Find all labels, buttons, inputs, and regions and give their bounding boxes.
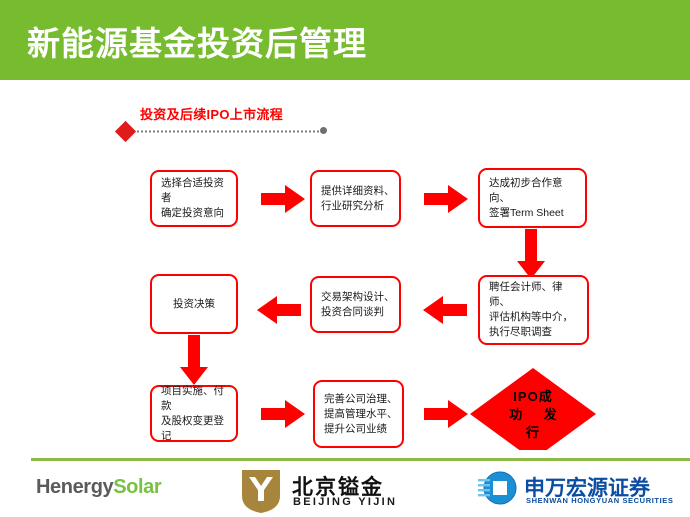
flow-step-box-5[interactable]: 交易架构设计、 投资合同谈判 (310, 276, 401, 333)
flow-step-label: 提供详细资料、 行业研究分析 (312, 184, 399, 214)
logo-beijing-yijin: 北京镒金 BEIJING YIJIN (240, 468, 440, 514)
flow-step-box-1[interactable]: 选择合适投资者 确定投资意向 (150, 170, 238, 227)
shield-y-icon (240, 468, 282, 514)
end-dot-icon (320, 127, 327, 134)
flow-step-label: 达成初步合作意向、 签署Term Sheet (480, 176, 585, 221)
arrow-left-icon-2 (255, 295, 301, 325)
arrow-right-icon-4 (424, 399, 468, 429)
flow-step-label: 项目实施、付款 及股权变更登记 (152, 384, 236, 444)
shenwan-circle-icon (478, 470, 518, 508)
page-title: 新能源基金投资后管理 (27, 24, 367, 64)
arrow-right-icon-3 (261, 399, 305, 429)
flow-step-box-6[interactable]: 投资决策 (150, 274, 238, 334)
ipo-outcome-line-1: IPO成 (470, 388, 596, 406)
logo-henergy-solar: HenergySolar (36, 476, 161, 499)
flow-step-box-4[interactable]: 聘任会计师、律师、 评估机构等中介， 执行尽职调查 (478, 275, 589, 345)
logo-shenwan-en: SHENWAN HONGYUAN SECURITIES (526, 496, 673, 505)
logo-henergy-part-2: Solar (113, 476, 161, 498)
subtitle-label: 投资及后续IPO上市流程 (140, 104, 283, 123)
dotted-line-divider (136, 130, 321, 133)
flow-step-label: 完善公司治理、 提高管理水平、 提升公司业绩 (315, 392, 402, 437)
arrow-down-icon-1 (516, 229, 546, 279)
arrow-right-icon-2 (424, 184, 468, 214)
flow-step-label: 聘任会计师、律师、 评估机构等中介， 执行尽职调查 (480, 280, 587, 340)
arrow-right-icon-1 (261, 184, 305, 214)
footer-divider (31, 458, 690, 461)
flow-step-label: 选择合适投资者 确定投资意向 (152, 176, 236, 221)
ipo-outcome-line-2: 功 发 (470, 406, 596, 424)
logo-henergy-part-1: Henergy (36, 476, 113, 498)
flow-step-label: 投资决策 (152, 297, 236, 312)
logo-yijin-en: BEIJING YIJIN (293, 496, 397, 508)
logo-shenwan-hongyuan: 申万宏源证券 SHENWAN HONGYUAN SECURITIES (478, 470, 690, 512)
arrow-left-icon-1 (421, 295, 467, 325)
header-banner: 新能源基金投资后管理 (0, 0, 690, 80)
ipo-outcome-diamond[interactable]: IPO成 功 发 行 (470, 368, 596, 460)
flow-step-box-2[interactable]: 提供详细资料、 行业研究分析 (310, 170, 401, 227)
flow-step-box-3[interactable]: 达成初步合作意向、 签署Term Sheet (478, 168, 587, 228)
flow-step-box-7[interactable]: 项目实施、付款 及股权变更登记 (150, 385, 238, 442)
footer-bar: HenergySolar 北京镒金 BEIJING YIJIN 申万宏源证券 S… (0, 450, 690, 517)
arrow-down-icon-2 (179, 335, 209, 385)
flow-step-label: 交易架构设计、 投资合同谈判 (312, 290, 399, 320)
subtitle-group: 投资及后续IPO上市流程 (112, 104, 342, 144)
ipo-outcome-line-3: 行 (470, 424, 596, 442)
diamond-bullet-icon (115, 121, 136, 142)
ipo-outcome-label: IPO成 功 发 行 (470, 388, 596, 442)
flow-step-box-8[interactable]: 完善公司治理、 提高管理水平、 提升公司业绩 (313, 380, 404, 448)
